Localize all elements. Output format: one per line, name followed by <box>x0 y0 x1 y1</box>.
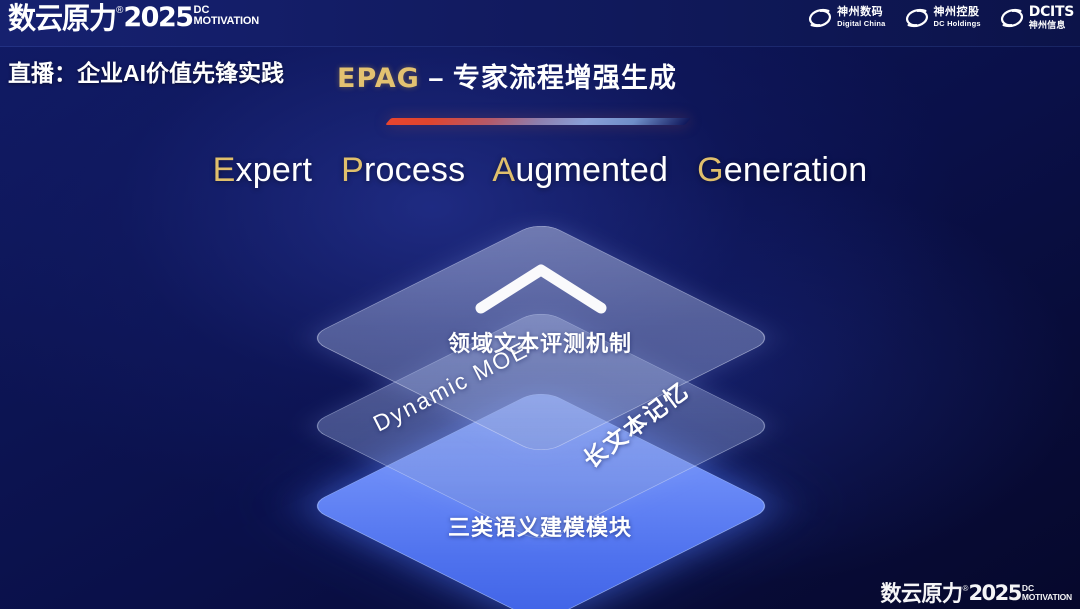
page-subtitle: Expert Process Augmented Generation <box>0 151 1080 190</box>
title-cn: – 专家流程增强生成 <box>420 63 677 93</box>
brand-name-cn: 数云原力 <box>8 3 116 35</box>
logo-label-cn: 神州控股 <box>934 7 981 18</box>
title-abbrev: EPAG <box>337 63 420 94</box>
brand-motivation-word: MOTIVATION <box>194 15 259 27</box>
diagram-layer-bottom-label: 三类语义建模模块 <box>275 510 805 542</box>
logo-dcits: DCITS 神州信息 <box>999 5 1074 30</box>
subtitle-rest: rocess <box>364 151 465 189</box>
watermark-year: 2025 <box>968 582 1020 605</box>
logo-digital-china: 神州数码 Digital China <box>807 7 885 29</box>
logo-label-cn: 神州数码 <box>837 7 885 18</box>
page-title: EPAG – 专家流程增强生成 <box>337 56 677 95</box>
dcits-swirl-icon <box>999 7 1025 29</box>
logo-dc-holdings: 神州控股 DC Holdings <box>904 7 981 29</box>
brand-year: 2025 <box>123 3 192 33</box>
diagram-labels: 领域文本评测机制 Dynamic MOE 长文本记忆 三类语义建模模块 <box>275 222 805 567</box>
subtitle-space <box>322 151 332 189</box>
logo-dcits-text: DCITS 神州信息 <box>1029 5 1074 30</box>
top-banner: 数云原力 ® 2025 DC MOTIVATION 神州数码 Digital C… <box>0 0 1080 47</box>
partner-logos: 神州数码 Digital China 神州控股 DC Holdings DC <box>807 5 1074 30</box>
registered-mark: ® <box>116 5 123 17</box>
diagram-layer-top-label: 领域文本评测机制 <box>275 326 805 358</box>
brand-dc-motivation: DC MOTIVATION <box>194 5 259 27</box>
event-brand-logo: 数云原力 ® 2025 DC MOTIVATION <box>8 3 259 33</box>
watermark-dc-abbrev: DC <box>1022 584 1072 592</box>
subtitle-space <box>475 151 485 189</box>
watermark-brand-cn: 数云原力 <box>881 582 963 606</box>
subtitle-word-process: Process <box>341 151 465 189</box>
subtitle-word-expert: Expert <box>213 151 312 189</box>
subtitle-rest: xpert <box>236 151 313 189</box>
watermark-motivation-word: MOTIVATION <box>1022 592 1072 602</box>
watermark-dc-motivation: DC MOTIVATION <box>1022 584 1072 602</box>
subtitle-initial: G <box>697 151 724 189</box>
subtitle-rest: eneration <box>724 151 868 189</box>
subtitle-initial: A <box>492 151 515 189</box>
live-session-title: 直播：企业AI价值先锋实践 <box>8 54 284 88</box>
logo-digital-china-text: 神州数码 Digital China <box>837 7 885 28</box>
subtitle-space <box>678 151 688 189</box>
dc-holdings-swirl-icon <box>904 7 930 29</box>
layered-architecture-diagram: 领域文本评测机制 Dynamic MOE 长文本记忆 三类语义建模模块 <box>275 222 805 567</box>
subtitle-initial: P <box>341 151 364 189</box>
subtitle-initial: E <box>213 151 236 189</box>
brand-dc-abbrev: DC <box>194 5 259 15</box>
slide-canvas: 数云原力 ® 2025 DC MOTIVATION 神州数码 Digital C… <box>0 0 1080 609</box>
subtitle-word-augmented: Augmented <box>492 151 668 189</box>
logo-label-en: DCITS <box>1029 5 1074 19</box>
logo-label-cn: 神州信息 <box>1029 21 1074 30</box>
logo-label-en: Digital China <box>837 20 885 28</box>
digital-china-swirl-icon <box>807 7 833 29</box>
subtitle-word-generation: Generation <box>697 151 867 189</box>
diagram-layer-middle-label-right: 长文本记忆 <box>575 372 695 474</box>
logo-dc-holdings-text: 神州控股 DC Holdings <box>934 7 981 28</box>
gradient-divider <box>385 118 691 125</box>
chevron-up-icon <box>471 260 611 316</box>
logo-label-en: DC Holdings <box>934 20 981 28</box>
corner-watermark: 数云原力 ® 2025 DC MOTIVATION <box>881 582 1072 605</box>
subtitle-rest: ugmented <box>515 151 668 189</box>
